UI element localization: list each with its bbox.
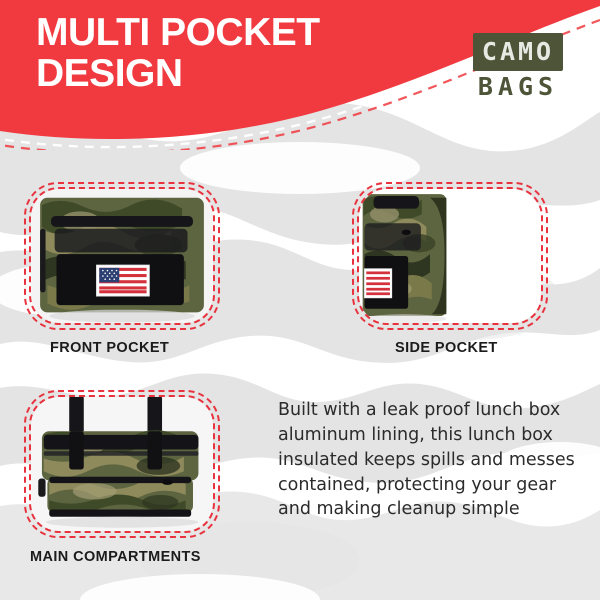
product-description: Built with a leak proof lunch box alumin… — [278, 398, 590, 522]
feature-card-side-pocket — [352, 182, 548, 330]
page-title: MULTI POCKET DESIGN — [36, 12, 320, 95]
dashed-frame — [24, 182, 220, 330]
brand-logo: CAMO BAGS — [458, 33, 578, 102]
product-photo-front-pocket — [31, 189, 213, 323]
product-photo-main-compartments — [31, 397, 213, 531]
feature-card-main-compartments — [24, 390, 220, 538]
caption-side-pocket: SIDE POCKET — [395, 340, 498, 356]
logo-box: CAMO — [473, 33, 563, 71]
feature-card-front-pocket — [24, 182, 220, 330]
product-photo-side-pocket — [359, 189, 541, 323]
logo-primary-text: CAMO — [482, 39, 554, 64]
logo-secondary-text: BAGS — [458, 73, 578, 102]
caption-front-pocket: FRONT POCKET — [50, 340, 169, 356]
dashed-frame — [24, 390, 220, 538]
dashed-frame — [352, 182, 548, 330]
caption-main-compartments: MAIN COMPARTMENTS — [30, 549, 201, 565]
